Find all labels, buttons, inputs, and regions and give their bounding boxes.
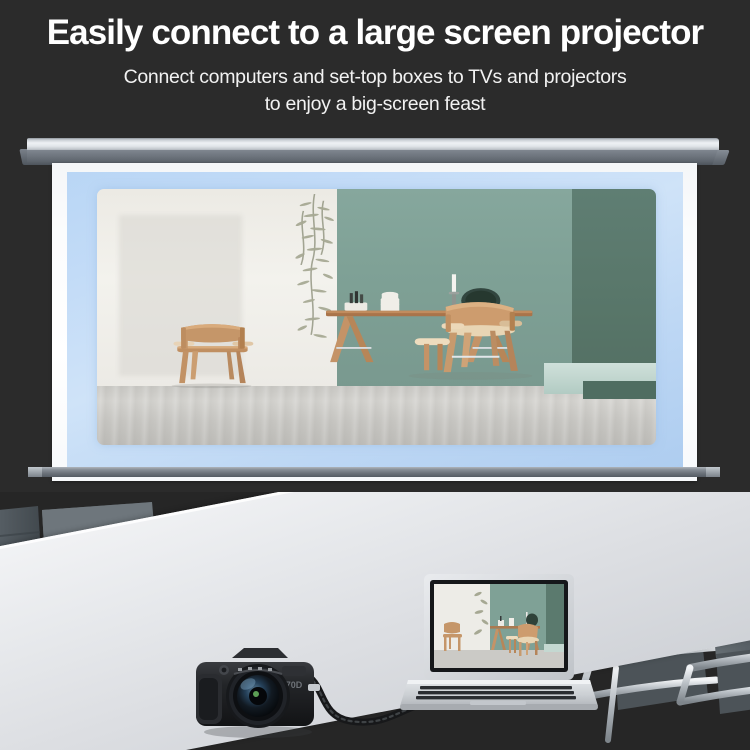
laptop-computer[interactable] [398,572,598,717]
laptop-trackpad [470,701,526,705]
desk-and-chair-group-icon [326,268,594,393]
projected-image [97,189,656,445]
page-subtitle: Connect computers and set-top boxes to T… [0,64,750,118]
page-title: Easily connect to a large screen project… [6,14,745,51]
page-subtitle-line-1: Connect computers and set-top boxes to T… [0,64,750,91]
screen-blue-glow [67,172,683,469]
projector-screen-casing [27,138,719,165]
room-scene-large [97,189,656,445]
product-banner: Easily connect to a large screen project… [0,0,750,750]
screen-bottom-weight-bar [28,467,720,477]
page-subtitle-line-2: to enjoy a big-screen feast [0,91,750,118]
laptop-screen-content [434,584,564,668]
laptop-keyboard [416,686,576,699]
dslr-camera-icon: 70D [186,640,326,740]
projection-screen-sheet [52,163,697,481]
concrete-floor [97,386,656,445]
projection-screen-assembly [0,130,750,490]
wooden-armchair-icon [164,302,259,394]
